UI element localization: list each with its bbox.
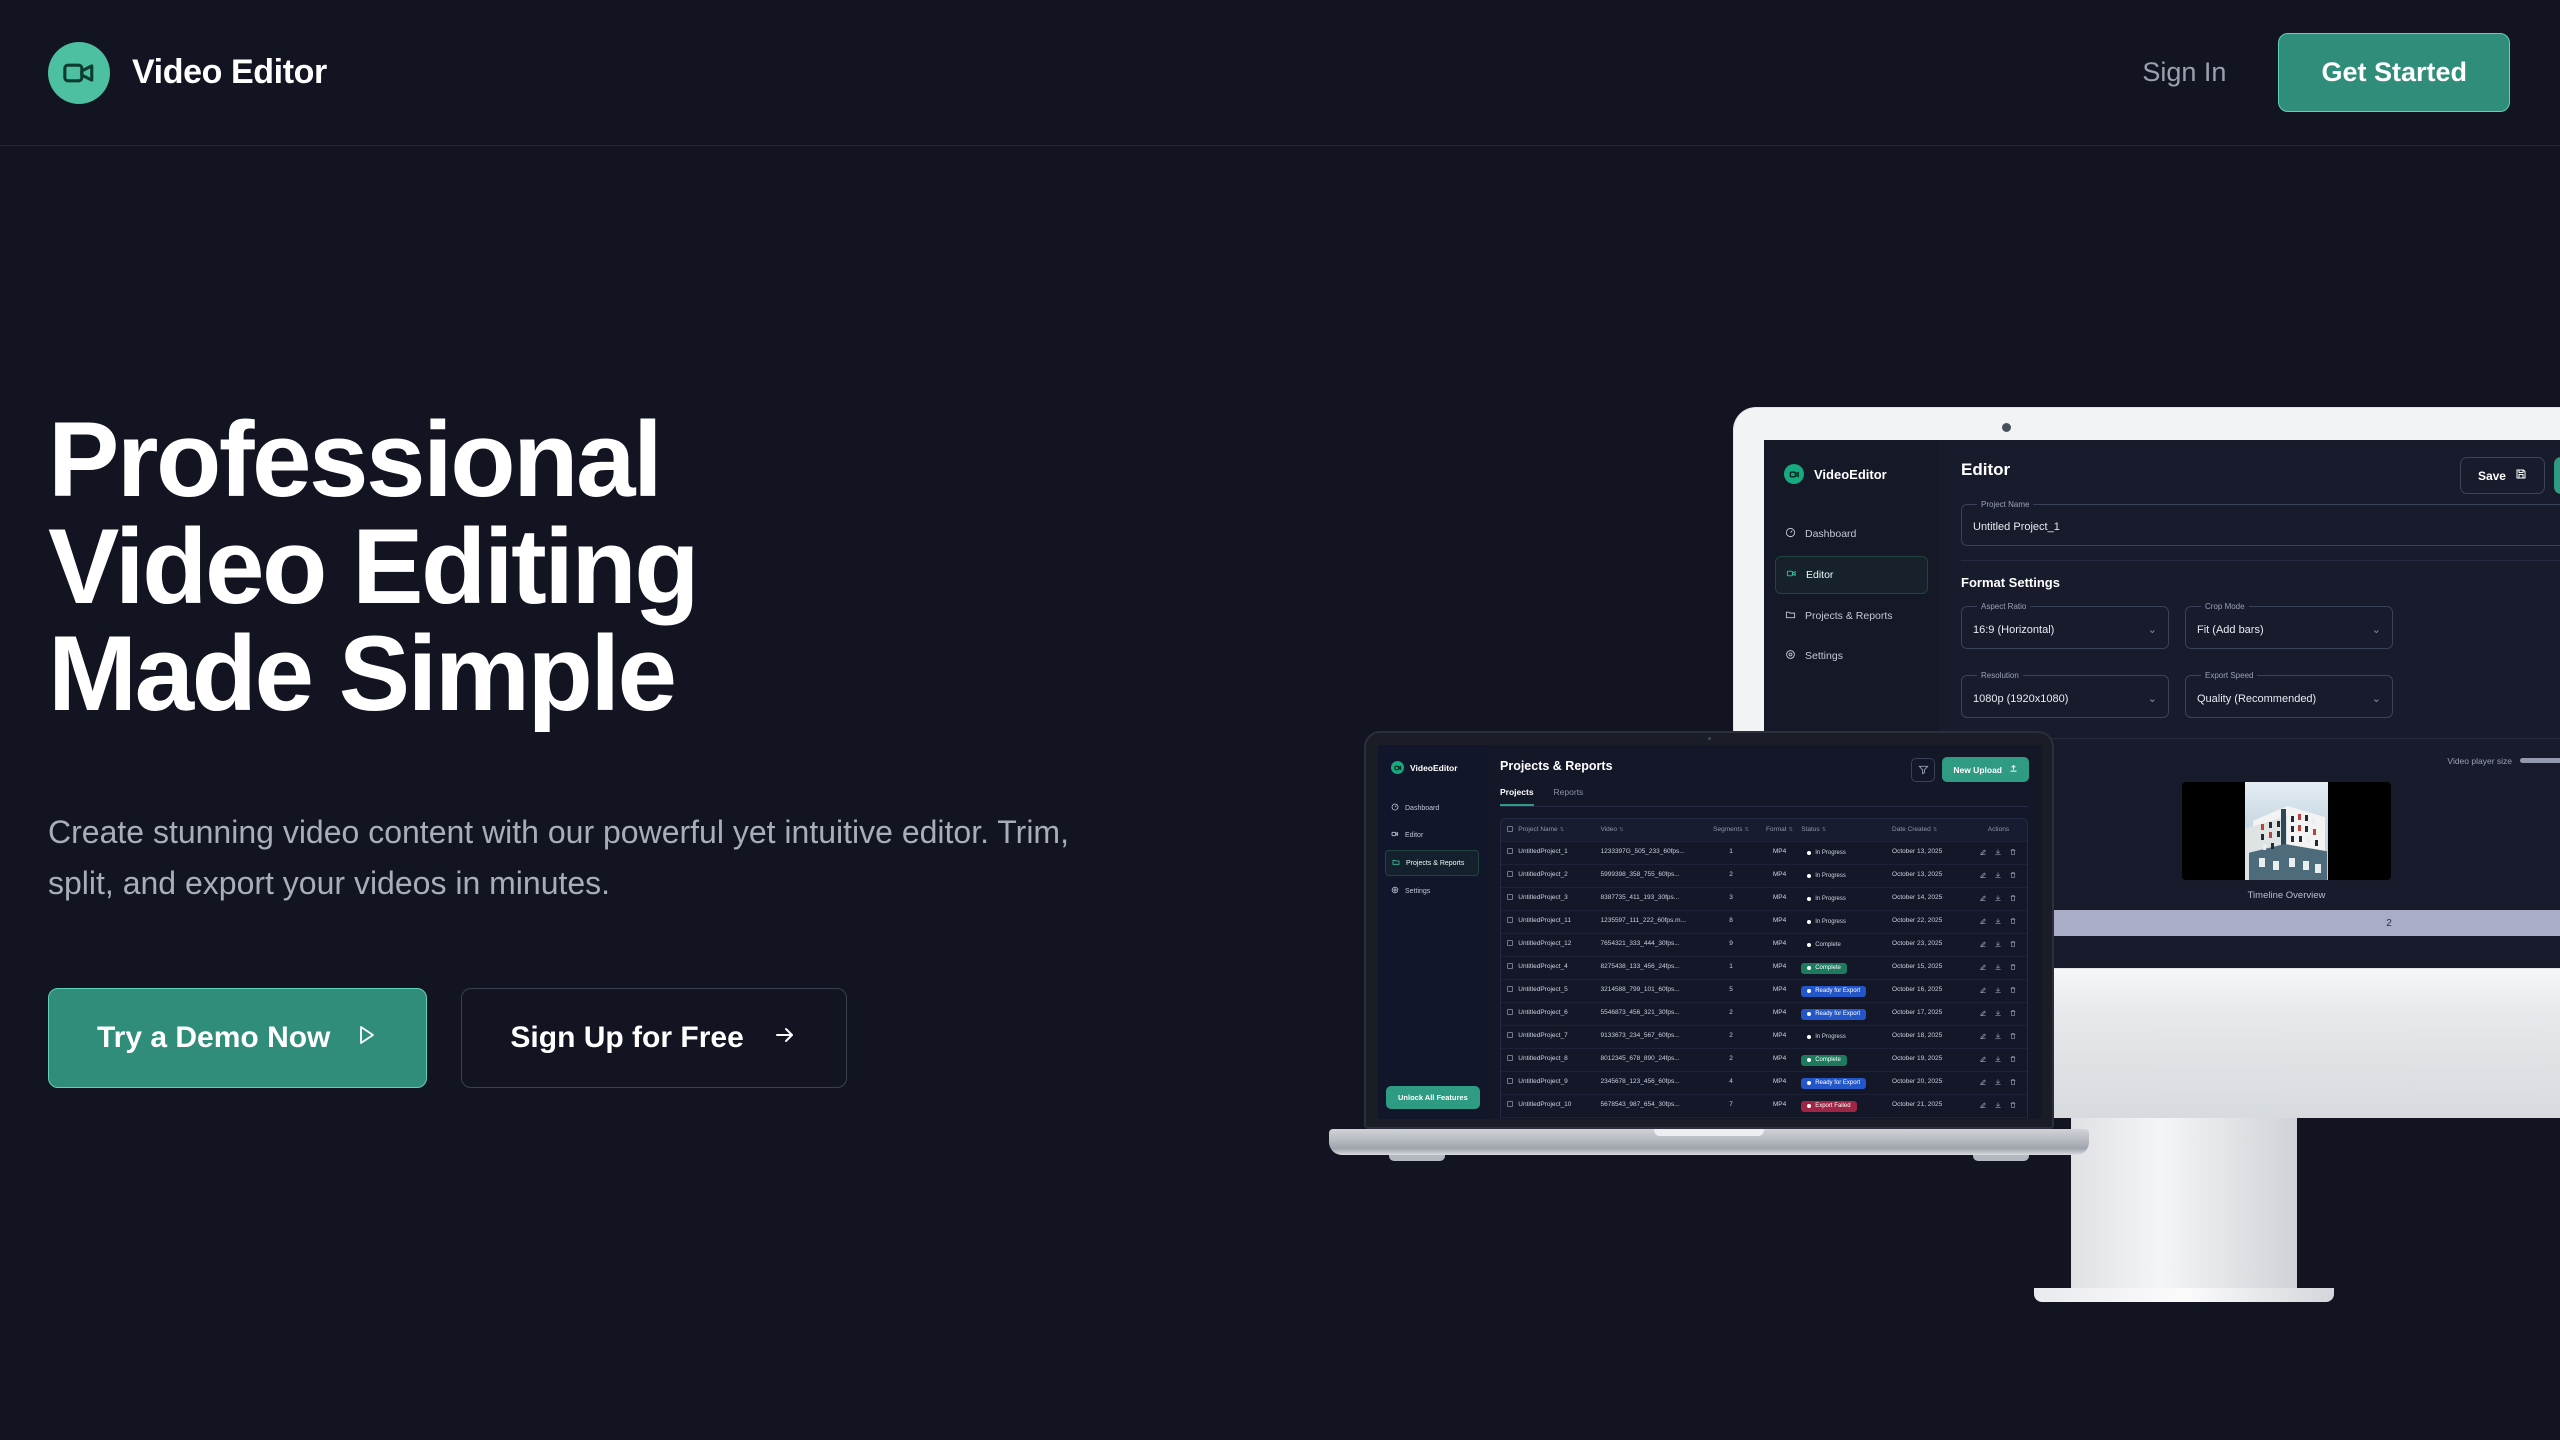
cell-project-name: UntitledProject_11 [1518,917,1600,928]
cell-project-name: UntitledProject_12 [1518,940,1600,951]
cell-video: 5546873_456_321_30fps... [1600,1009,1704,1020]
folder-icon [1785,609,1796,623]
brand-name: Video Editor [132,53,327,92]
delete-icon[interactable] [2009,848,2017,859]
cell-date-created: October 16, 2025 [1892,986,1970,997]
cell-video: 1233397G_505_233_60fps... [1600,848,1704,859]
monitor-app-name: VideoEditor [1814,467,1887,482]
table-row[interactable]: UntitledProject_53214588_799_101_60fps..… [1501,979,2027,1002]
cell-actions [1970,894,2027,905]
select-all-checkbox[interactable] [1501,826,1518,834]
new-upload-label: New Upload [1953,765,2002,775]
hero-cta-group: Try a Demo Now Sign Up for Free [48,988,1100,1088]
cell-date-created: October 23, 2025 [1892,940,1970,951]
new-upload-button[interactable]: New Upload [1942,757,2029,782]
laptop-base [1329,1129,2089,1155]
cell-actions [1970,871,2027,882]
col-video[interactable]: Video⇅ [1600,826,1704,834]
row-checkbox[interactable] [1501,917,1518,928]
cell-status: In Progress [1801,871,1892,882]
row-checkbox[interactable] [1501,871,1518,882]
video-preview-thumbnail [2245,782,2328,880]
col-status[interactable]: Status⇅ [1801,826,1892,834]
chevron-down-icon: ⌄ [2148,692,2157,705]
laptop-camera-icon [1708,737,1711,740]
field-value: Fit (Add bars) [2197,624,2264,636]
edit-icon[interactable] [1979,917,1987,928]
field-value: Quality (Recommended) [2197,693,2316,705]
download-icon[interactable] [1994,1009,2002,1020]
row-checkbox[interactable] [1501,1009,1518,1020]
row-checkbox[interactable] [1501,894,1518,905]
aspect-ratio-select[interactable]: Aspect Ratio 16:9 (Horizontal) ⌄ [1961,602,2169,649]
cell-project-name: UntitledProject_2 [1518,871,1600,882]
site-header: Video Editor Sign In Get Started [0,0,2560,146]
page-title: Professional Video Editing Made Simple [48,406,1100,727]
crop-mode-select[interactable]: Crop Mode Fit (Add bars) ⌄ [2185,602,2393,649]
cell-segments: 9 [1704,940,1758,951]
save-label: Save [2478,469,2506,483]
edit-icon[interactable] [1979,894,1987,905]
sidebar-item-dashboard[interactable]: Dashboard [1385,796,1479,820]
download-icon[interactable] [1994,1032,2002,1043]
laptop-top-actions: New Upload [1911,757,2029,782]
cell-status: In Progress [1801,848,1892,859]
cell-status: Ready for Export [1801,1009,1892,1020]
floppy-disk-icon [2515,468,2527,483]
format-settings-heading: Format Settings [1961,575,2560,590]
download-icon[interactable] [1994,917,2002,928]
cell-segments: 3 [1704,894,1758,905]
cell-segments: 2 [1704,871,1758,882]
cell-actions [1970,1032,2027,1043]
cell-status: Ready for Export [1801,1078,1892,1089]
laptop-feet [1329,1155,2089,1161]
cell-date-created: October 15, 2025 [1892,963,1970,974]
cell-video: 8275438_133_456_24fps... [1600,963,1704,974]
sort-icon: ⇅ [1744,827,1749,833]
cell-video: 7654321_333_444_30fps... [1600,940,1704,951]
cell-format: MP4 [1758,1055,1801,1066]
delete-icon[interactable] [2009,1078,2017,1089]
cell-actions [1970,1009,2027,1020]
video-icon [1786,568,1797,582]
download-icon[interactable] [1994,848,2002,859]
arrow-right-icon [772,1021,798,1055]
status-badge: Export Failed [1801,1101,1856,1112]
get-started-button[interactable]: Get Started [2278,33,2510,112]
status-badge: In Progress [1801,848,1852,859]
laptop-app-logo: VideoEditor [1378,761,1486,774]
slider-label: Video player size [2447,756,2512,766]
hero-section: Professional Video Editing Made Simple C… [0,146,1100,1088]
laptop-nav: Dashboard Editor Projects & Reports [1378,796,1486,903]
cell-video: 8012345_678_890_24fps... [1600,1055,1704,1066]
sidebar-label: Dashboard [1405,805,1439,812]
folder-icon [1392,858,1400,868]
tab-reports[interactable]: Reports [1554,787,1584,806]
video-camera-icon [1784,464,1804,484]
delete-icon[interactable] [2009,940,2017,951]
cell-status: Export Failed [1801,1101,1892,1112]
sidebar-item-editor[interactable]: Editor [1385,823,1479,847]
field-value: 1080p (1920x1080) [1973,693,2068,705]
col-actions: Actions [1970,826,2027,834]
sidebar-item-projects-reports[interactable]: Projects & Reports [1385,850,1479,876]
table-row[interactable]: UntitledProject_65546873_456_321_30fps..… [1501,1002,2027,1025]
hero-subtitle: Create stunning video content with our p… [48,807,1100,908]
cell-format: MP4 [1758,1032,1801,1043]
download-icon[interactable] [1994,871,2002,882]
slider-track[interactable] [2520,758,2560,763]
video-preview-player[interactable] [2182,782,2391,880]
cell-project-name: UntitledProject_4 [1518,963,1600,974]
edit-icon[interactable] [1979,963,1987,974]
delete-icon[interactable] [2009,1055,2017,1066]
cell-date-created: October 18, 2025 [1892,1032,1970,1043]
status-badge: In Progress [1801,894,1852,905]
cell-date-created: October 13, 2025 [1892,871,1970,882]
cell-video: 9133673_234_567_60fps... [1600,1032,1704,1043]
cell-format: MP4 [1758,986,1801,997]
cell-date-created: October 17, 2025 [1892,1009,1970,1020]
download-icon[interactable] [1994,986,2002,997]
row-checkbox[interactable] [1501,1055,1518,1066]
col-date-created[interactable]: Date Created⇅ [1892,826,1970,834]
cell-project-name: UntitledProject_3 [1518,894,1600,905]
cell-date-created: October 22, 2025 [1892,917,1970,928]
chevron-down-icon: ⌄ [2372,623,2381,636]
row-checkbox[interactable] [1501,1032,1518,1043]
sign-in-button[interactable]: Sign In [2142,57,2226,88]
col-format[interactable]: Format⇅ [1758,826,1801,834]
cell-format: MP4 [1758,1078,1801,1089]
tab-projects[interactable]: Projects [1500,787,1534,806]
laptop-mockup: VideoEditor Dashboard Editor [1364,731,2054,1155]
cell-format: MP4 [1758,1101,1801,1112]
cell-segments: 4 [1704,1078,1758,1089]
cell-actions [1970,986,2027,997]
cell-status: Complete [1801,1055,1892,1066]
download-icon[interactable] [1994,1055,2002,1066]
status-badge: Ready for Export [1801,1009,1866,1020]
cell-format: MP4 [1758,894,1801,905]
project-name-field[interactable]: Project Name Untitled Project_1 [1961,500,2560,546]
delete-icon[interactable] [2009,986,2017,997]
cell-status: Complete [1801,940,1892,951]
edit-icon[interactable] [1979,1032,1987,1043]
video-player-size-slider[interactable]: Video player size [2447,756,2560,766]
cell-format: MP4 [1758,871,1801,882]
project-name-value: Untitled Project_1 [1973,521,2560,533]
cell-date-created: October 14, 2025 [1892,894,1970,905]
chevron-down-icon: ⌄ [2148,623,2157,636]
cell-video: 5999398_358_755_60fps... [1600,871,1704,882]
gauge-icon [1785,527,1796,541]
field-label: Resolution [1977,671,2023,680]
monitor-stand-foot [2034,1288,2334,1302]
cell-status: In Progress [1801,1032,1892,1043]
cell-video: 5678543_987_654_30fps... [1600,1101,1704,1112]
cell-date-created: October 19, 2025 [1892,1055,1970,1066]
cell-format: MP4 [1758,848,1801,859]
status-badge: Complete [1801,1055,1847,1066]
table-row[interactable]: UntitledProject_105678543_987_654_30fps.… [1501,1094,2027,1117]
sort-icon: ⇅ [1933,827,1938,833]
laptop-sidebar: VideoEditor Dashboard Editor [1378,745,1486,1119]
video-icon [1391,830,1399,840]
edit-icon[interactable] [1979,1101,1987,1112]
col-project-name[interactable]: Project Name⇅ [1518,826,1600,834]
monitor-stand-neck [2071,1118,2297,1288]
sidebar-label: Editor [1806,569,1833,581]
unlock-all-features-button[interactable]: Unlock All Features [1386,1086,1480,1109]
sidebar-label: Settings [1405,888,1430,895]
row-checkbox[interactable] [1501,1101,1518,1112]
table-row[interactable]: UntitledProject_11233397G_505_233_60fps.… [1501,841,2027,864]
cell-date-created: October 21, 2025 [1892,1101,1970,1112]
laptop-app-name: VideoEditor [1410,763,1458,773]
table-row[interactable]: UntitledProject_25999398_358_755_60fps..… [1501,864,2027,887]
cell-video: 1235597_111_222_60fps.m... [1600,917,1704,928]
resolution-select[interactable]: Resolution 1080p (1920x1080) ⌄ [1961,671,2169,718]
delete-icon[interactable] [2009,963,2017,974]
video-camera-icon [1391,761,1404,774]
cell-actions [1970,1055,2027,1066]
table-row[interactable]: UntitledProject_111235597_111_222_60fps.… [1501,910,2027,933]
row-checkbox[interactable] [1501,940,1518,951]
laptop-base-notch [1654,1129,1764,1136]
gauge-icon [1391,803,1399,813]
laptop-main: Projects & Reports New Upload Projects R… [1486,745,2042,1119]
cell-status: Ready for Export [1801,986,1892,997]
hero-title-line-2: Video Editing [48,513,1100,620]
table-row[interactable]: UntitledProject_79133673_234_567_60fps..… [1501,1025,2027,1048]
upload-icon [2009,764,2018,775]
cell-segments: 2 [1704,1032,1758,1043]
field-label: Aspect Ratio [1977,602,2030,611]
laptop-screen: VideoEditor Dashboard Editor [1378,745,2042,1119]
cell-project-name: UntitledProject_10 [1518,1101,1600,1112]
status-badge: In Progress [1801,871,1852,882]
sidebar-item-editor[interactable]: Editor [1775,556,1928,594]
filter-funnel-icon[interactable] [1911,758,1935,782]
cell-project-name: UntitledProject_8 [1518,1055,1600,1066]
cell-project-name: UntitledProject_1 [1518,848,1600,859]
cell-segments: 5 [1704,986,1758,997]
project-name-label: Project Name [1977,500,2033,509]
sort-icon: ⇅ [1560,827,1565,833]
sidebar-label: Projects & Reports [1406,860,1464,867]
cell-actions [1970,940,2027,951]
edit-icon[interactable] [1979,986,1987,997]
status-badge: Complete [1801,963,1847,974]
sign-up-free-button[interactable]: Sign Up for Free [461,988,846,1088]
save-button[interactable]: Save [2460,457,2545,494]
sidebar-label: Projects & Reports [1805,610,1893,622]
cell-video: 8387735_411_193_30fps... [1600,894,1704,905]
cell-project-name: UntitledProject_6 [1518,1009,1600,1020]
video-camera-icon [48,42,110,104]
hero-title-line-3: Made Simple [48,620,1100,727]
cell-date-created: October 20, 2025 [1892,1078,1970,1089]
table-row[interactable]: UntitledProject_48275438_133_456_24fps..… [1501,956,2027,979]
table-row[interactable]: UntitledProject_131357924_555_666_60fps.… [1501,1117,2027,1119]
table-row[interactable]: UntitledProject_38387735_411_193_30fps..… [1501,887,2027,910]
cell-segments: 1 [1704,963,1758,974]
export-button[interactable]: Exp [2554,457,2560,494]
sign-up-label: Sign Up for Free [510,1021,743,1055]
cell-project-name: UntitledProject_7 [1518,1032,1600,1043]
edit-icon[interactable] [1979,1078,1987,1089]
table-row[interactable]: UntitledProject_92345678_123_456_60fps..… [1501,1071,2027,1094]
chevron-down-icon: ⌄ [2372,692,2381,705]
sidebar-item-settings[interactable]: Settings [1775,638,1928,674]
field-value: 16:9 (Horizontal) [1973,624,2054,636]
download-icon[interactable] [1994,894,2002,905]
cell-video: 3214588_799_101_60fps... [1600,986,1704,997]
sidebar-label: Dashboard [1805,528,1856,540]
cell-segments: 7 [1704,1101,1758,1112]
cell-status: Complete [1801,963,1892,974]
status-badge: Ready for Export [1801,986,1866,997]
divider [1961,560,2560,561]
gear-icon [1391,886,1399,896]
laptop-tabs: Projects Reports [1500,787,2028,807]
download-icon[interactable] [1994,1078,2002,1089]
cell-format: MP4 [1758,917,1801,928]
field-label: Crop Mode [2201,602,2249,611]
table-row[interactable]: UntitledProject_88012345_678_890_24fps..… [1501,1048,2027,1071]
sidebar-item-dashboard[interactable]: Dashboard [1775,516,1928,552]
try-demo-button[interactable]: Try a Demo Now [48,988,427,1088]
play-triangle-icon [354,1021,378,1055]
projects-table: Project Name⇅ Video⇅ Segments⇅ Format⇅ S… [1500,818,2028,1119]
cell-format: MP4 [1758,963,1801,974]
sort-icon: ⇅ [1789,827,1794,833]
edit-icon[interactable] [1979,848,1987,859]
laptop-lid: VideoEditor Dashboard Editor [1364,731,2054,1129]
brand-logo[interactable]: Video Editor [48,42,327,104]
sidebar-item-settings[interactable]: Settings [1385,879,1479,903]
edit-icon[interactable] [1979,871,1987,882]
cell-status: In Progress [1801,917,1892,928]
download-icon[interactable] [1994,963,2002,974]
download-icon[interactable] [1994,1101,2002,1112]
cell-video: 2345678_123_456_60fps... [1600,1078,1704,1089]
format-settings-grid: Aspect Ratio 16:9 (Horizontal) ⌄ Crop Mo… [1961,602,2560,724]
cell-format: MP4 [1758,1009,1801,1020]
monitor-nav: Dashboard Editor Projects & Reports [1764,516,1939,674]
try-demo-label: Try a Demo Now [97,1021,330,1055]
edit-icon[interactable] [1979,1009,1987,1020]
delete-icon[interactable] [2009,1009,2017,1020]
delete-icon[interactable] [2009,917,2017,928]
gear-icon [1785,649,1796,663]
status-badge: Ready for Export [1801,1078,1866,1089]
delete-icon[interactable] [2009,1032,2017,1043]
sidebar-item-projects-reports[interactable]: Projects & Reports [1775,598,1928,634]
edit-icon[interactable] [1979,940,1987,951]
cell-segments: 2 [1704,1055,1758,1066]
download-icon[interactable] [1994,940,2002,951]
delete-icon[interactable] [2009,1101,2017,1112]
row-checkbox[interactable] [1501,986,1518,997]
header-actions: Sign In Get Started [2142,33,2510,112]
cell-segments: 1 [1704,848,1758,859]
cell-actions [1970,917,2027,928]
table-row[interactable]: UntitledProject_127654321_333_444_30fps.… [1501,933,2027,956]
row-checkbox[interactable] [1501,1078,1518,1089]
status-badge: In Progress [1801,1032,1852,1043]
monitor-app-logo: VideoEditor [1764,464,1939,484]
table-body: UntitledProject_11233397G_505_233_60fps.… [1501,841,2027,1119]
cell-actions [1970,1078,2027,1089]
row-checkbox[interactable] [1501,963,1518,974]
field-label: Export Speed [2201,671,2257,680]
cell-actions [1970,848,2027,859]
delete-icon[interactable] [2009,894,2017,905]
sort-icon: ⇅ [1822,827,1827,833]
cell-actions [1970,1101,2027,1112]
delete-icon[interactable] [2009,871,2017,882]
table-header-row: Project Name⇅ Video⇅ Segments⇅ Format⇅ S… [1501,819,2027,841]
row-checkbox[interactable] [1501,848,1518,859]
sort-icon: ⇅ [1619,827,1624,833]
cell-segments: 2 [1704,1009,1758,1020]
sidebar-label: Settings [1805,650,1843,662]
cell-status: In Progress [1801,894,1892,905]
sidebar-label: Editor [1405,832,1423,839]
cell-date-created: October 13, 2025 [1892,848,1970,859]
monitor-top-actions: Save Exp [2460,457,2560,494]
cell-project-name: UntitledProject_9 [1518,1078,1600,1089]
hero-title-line-1: Professional [48,406,1100,513]
status-badge: In Progress [1801,917,1852,928]
export-speed-select[interactable]: Export Speed Quality (Recommended) ⌄ [2185,671,2393,718]
col-segments[interactable]: Segments⇅ [1704,826,1758,834]
edit-icon[interactable] [1979,1055,1987,1066]
cell-segments: 8 [1704,917,1758,928]
cell-project-name: UntitledProject_5 [1518,986,1600,997]
status-badge: Complete [1801,940,1847,951]
monitor-camera-icon [2002,423,2011,432]
cell-format: MP4 [1758,940,1801,951]
cell-actions [1970,963,2027,974]
